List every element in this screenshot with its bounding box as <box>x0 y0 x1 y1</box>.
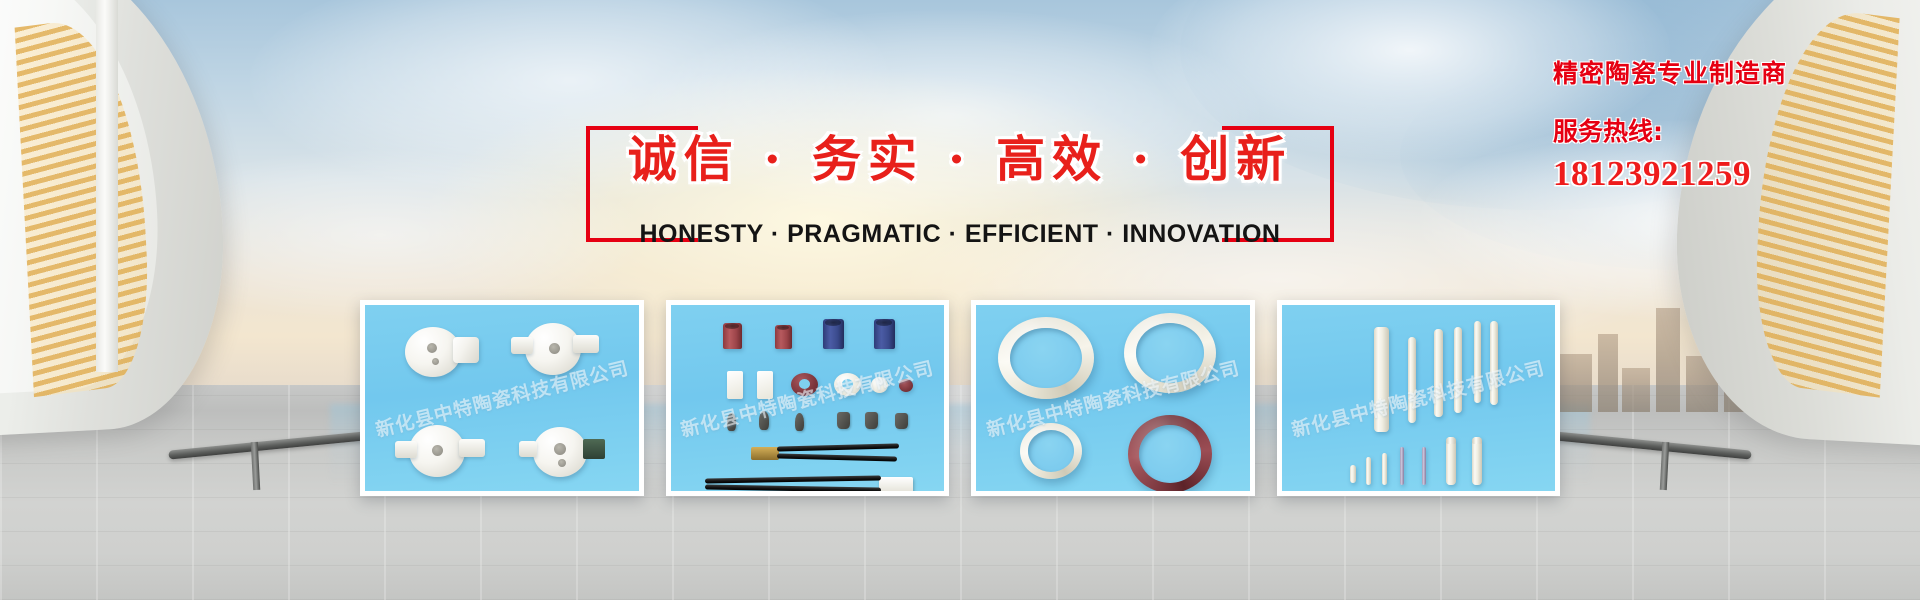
ceramic-rod <box>1374 327 1389 432</box>
product-image-4: 新化县中特陶瓷科技有限公司 <box>1282 305 1556 491</box>
ceramic-rod <box>1434 329 1443 417</box>
product-image-1: 新化县中特陶瓷科技有限公司 <box>365 305 639 491</box>
ceramic-rod-small <box>1400 447 1404 485</box>
lead-wire <box>776 453 896 461</box>
slogan-english: HONESTY · PRAGMATIC · EFFICIENT · INNOVA… <box>586 220 1334 249</box>
slogan-block: 诚信 · 务实 · 高效 · 创新 HONESTY · PRAGMATIC · … <box>586 126 1334 242</box>
socket-tab <box>511 337 533 354</box>
ceramic-washer <box>871 377 888 393</box>
brass-terminal <box>751 447 779 460</box>
socket-tab <box>519 441 537 457</box>
ceramic-rod <box>1454 327 1462 413</box>
ceramic-rod <box>1474 321 1481 403</box>
metal-clip <box>759 411 769 430</box>
product-image-2: 新化县中特陶瓷科技有限公司 <box>671 305 945 491</box>
left-pillar <box>96 0 118 372</box>
ceramic-seal-ring <box>998 317 1094 399</box>
ceramic-rod <box>1490 321 1498 405</box>
ceramic-rod <box>1408 337 1416 423</box>
lead-wire <box>704 475 880 483</box>
image-watermark: 新化县中特陶瓷科技有限公司 <box>678 353 937 442</box>
socket-tab <box>395 441 417 458</box>
product-gallery: 新化县中特陶瓷科技有限公司 <box>360 300 1560 496</box>
ceramic-tube-small <box>1446 437 1456 485</box>
hotline-number[interactable]: 18123921259 <box>1553 154 1883 194</box>
ceramic-plate <box>757 371 773 399</box>
ceramic-rod-small <box>1422 447 1426 485</box>
product-panel-sockets[interactable]: 新化县中特陶瓷科技有限公司 <box>360 300 644 496</box>
ceramic-washer <box>899 379 913 392</box>
socket-tab <box>573 335 599 353</box>
product-image-3: 新化县中特陶瓷科技有限公司 <box>976 305 1250 491</box>
metal-clip <box>865 412 878 429</box>
ceramic-plate <box>727 371 743 399</box>
ceramic-rod-small <box>1350 465 1356 483</box>
lead-wire <box>704 484 880 491</box>
socket-back-1 <box>453 337 479 363</box>
ceramic-seal-ring <box>1020 423 1082 479</box>
ceramic-rod-small <box>1366 457 1371 485</box>
product-panel-tubes[interactable]: 新化县中特陶瓷科技有限公司 <box>666 300 950 496</box>
ceramic-ring <box>834 373 861 396</box>
image-watermark: 新化县中特陶瓷科技有限公司 <box>1289 353 1548 442</box>
metal-clip <box>795 413 804 431</box>
hotline-label: 服务热线: <box>1553 112 1883 148</box>
metal-clip <box>727 413 736 431</box>
lead-wire <box>776 443 898 451</box>
ceramic-tube <box>823 319 844 349</box>
slogan-chinese: 诚信 · 务实 · 高效 · 创新 <box>586 120 1334 191</box>
ceramic-seal-ring <box>1124 313 1216 393</box>
company-tagline: 精密陶瓷专业制造商 <box>1553 54 1883 90</box>
product-panel-rings[interactable]: 新化县中特陶瓷科技有限公司 <box>971 300 1255 496</box>
socket-tab <box>459 439 485 457</box>
ceramic-ring <box>791 373 818 396</box>
ceramic-rod-small <box>1382 453 1387 485</box>
promo-banner: 诚信 · 务实 · 高效 · 创新 HONESTY · PRAGMATIC · … <box>0 0 1920 600</box>
ceramic-tube <box>874 319 895 349</box>
metal-clip <box>837 412 850 429</box>
ceramic-tube <box>775 325 792 349</box>
ceramic-tube <box>723 323 742 349</box>
product-panel-rods[interactable]: 新化县中特陶瓷科技有限公司 <box>1277 300 1561 496</box>
ceramic-socket <box>533 427 587 477</box>
ceramic-seal-ring-maroon <box>1128 415 1212 491</box>
ceramic-tube-small <box>1472 437 1482 485</box>
socket-contact <box>583 439 605 459</box>
metal-clip <box>895 413 908 429</box>
contact-block: 精密陶瓷专业制造商 服务热线: 18123921259 <box>1553 54 1883 194</box>
ceramic-socket <box>409 425 465 477</box>
wire-connector <box>879 477 913 491</box>
